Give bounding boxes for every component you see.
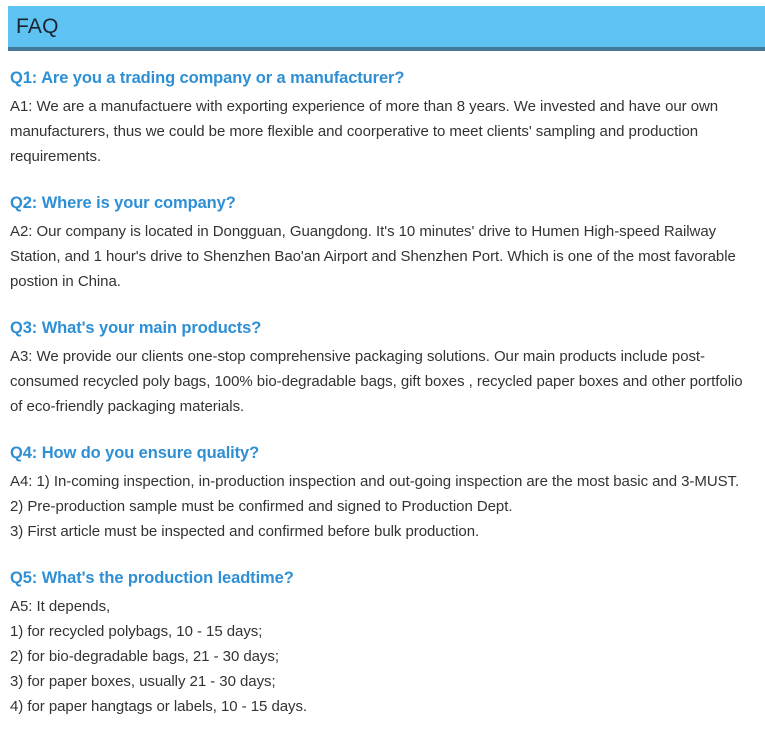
faq-answer-line: 3) First article must be inspected and c… [10, 519, 752, 544]
faq-answer-line: A1: We are a manufactuere with exporting… [10, 94, 752, 169]
faq-answer-line: A4: 1) In-coming inspection, in-producti… [10, 469, 752, 494]
faq-answer: A2: Our company is located in Dongguan, … [10, 219, 752, 294]
faq-question: Q3: What's your main products? [10, 316, 752, 341]
page-title: FAQ [16, 14, 59, 40]
faq-answer-line: A5: It depends, [10, 594, 752, 619]
faq-answer: A3: We provide our clients one-stop comp… [10, 344, 752, 419]
faq-item: Q1: Are you a trading company or a manuf… [10, 66, 752, 169]
faq-question: Q1: Are you a trading company or a manuf… [10, 66, 752, 91]
faq-answer: A4: 1) In-coming inspection, in-producti… [10, 469, 752, 544]
faq-answer: A5: It depends,1) for recycled polybags,… [10, 594, 752, 719]
faq-list: Q1: Are you a trading company or a manuf… [10, 66, 752, 719]
faq-answer-line: 1) for recycled polybags, 10 - 15 days; [10, 619, 752, 644]
faq-item: Q3: What's your main products?A3: We pro… [10, 316, 752, 419]
faq-header-bar: FAQ [8, 6, 765, 51]
faq-question: Q4: How do you ensure quality? [10, 441, 752, 466]
faq-answer-line: 3) for paper boxes, usually 21 - 30 days… [10, 669, 752, 694]
faq-item: Q4: How do you ensure quality?A4: 1) In-… [10, 441, 752, 544]
faq-answer-line: 2) Pre-production sample must be confirm… [10, 494, 752, 519]
faq-answer: A1: We are a manufactuere with exporting… [10, 94, 752, 169]
faq-item: Q5: What's the production leadtime?A5: I… [10, 566, 752, 719]
faq-answer-line: A3: We provide our clients one-stop comp… [10, 344, 752, 419]
faq-answer-line: 2) for bio-degradable bags, 21 - 30 days… [10, 644, 752, 669]
faq-question: Q5: What's the production leadtime? [10, 566, 752, 591]
faq-page: FAQ Q1: Are you a trading company or a m… [0, 0, 765, 748]
faq-answer-line: 4) for paper hangtags or labels, 10 - 15… [10, 694, 752, 719]
faq-item: Q2: Where is your company?A2: Our compan… [10, 191, 752, 294]
faq-question: Q2: Where is your company? [10, 191, 752, 216]
faq-answer-line: A2: Our company is located in Dongguan, … [10, 219, 752, 294]
